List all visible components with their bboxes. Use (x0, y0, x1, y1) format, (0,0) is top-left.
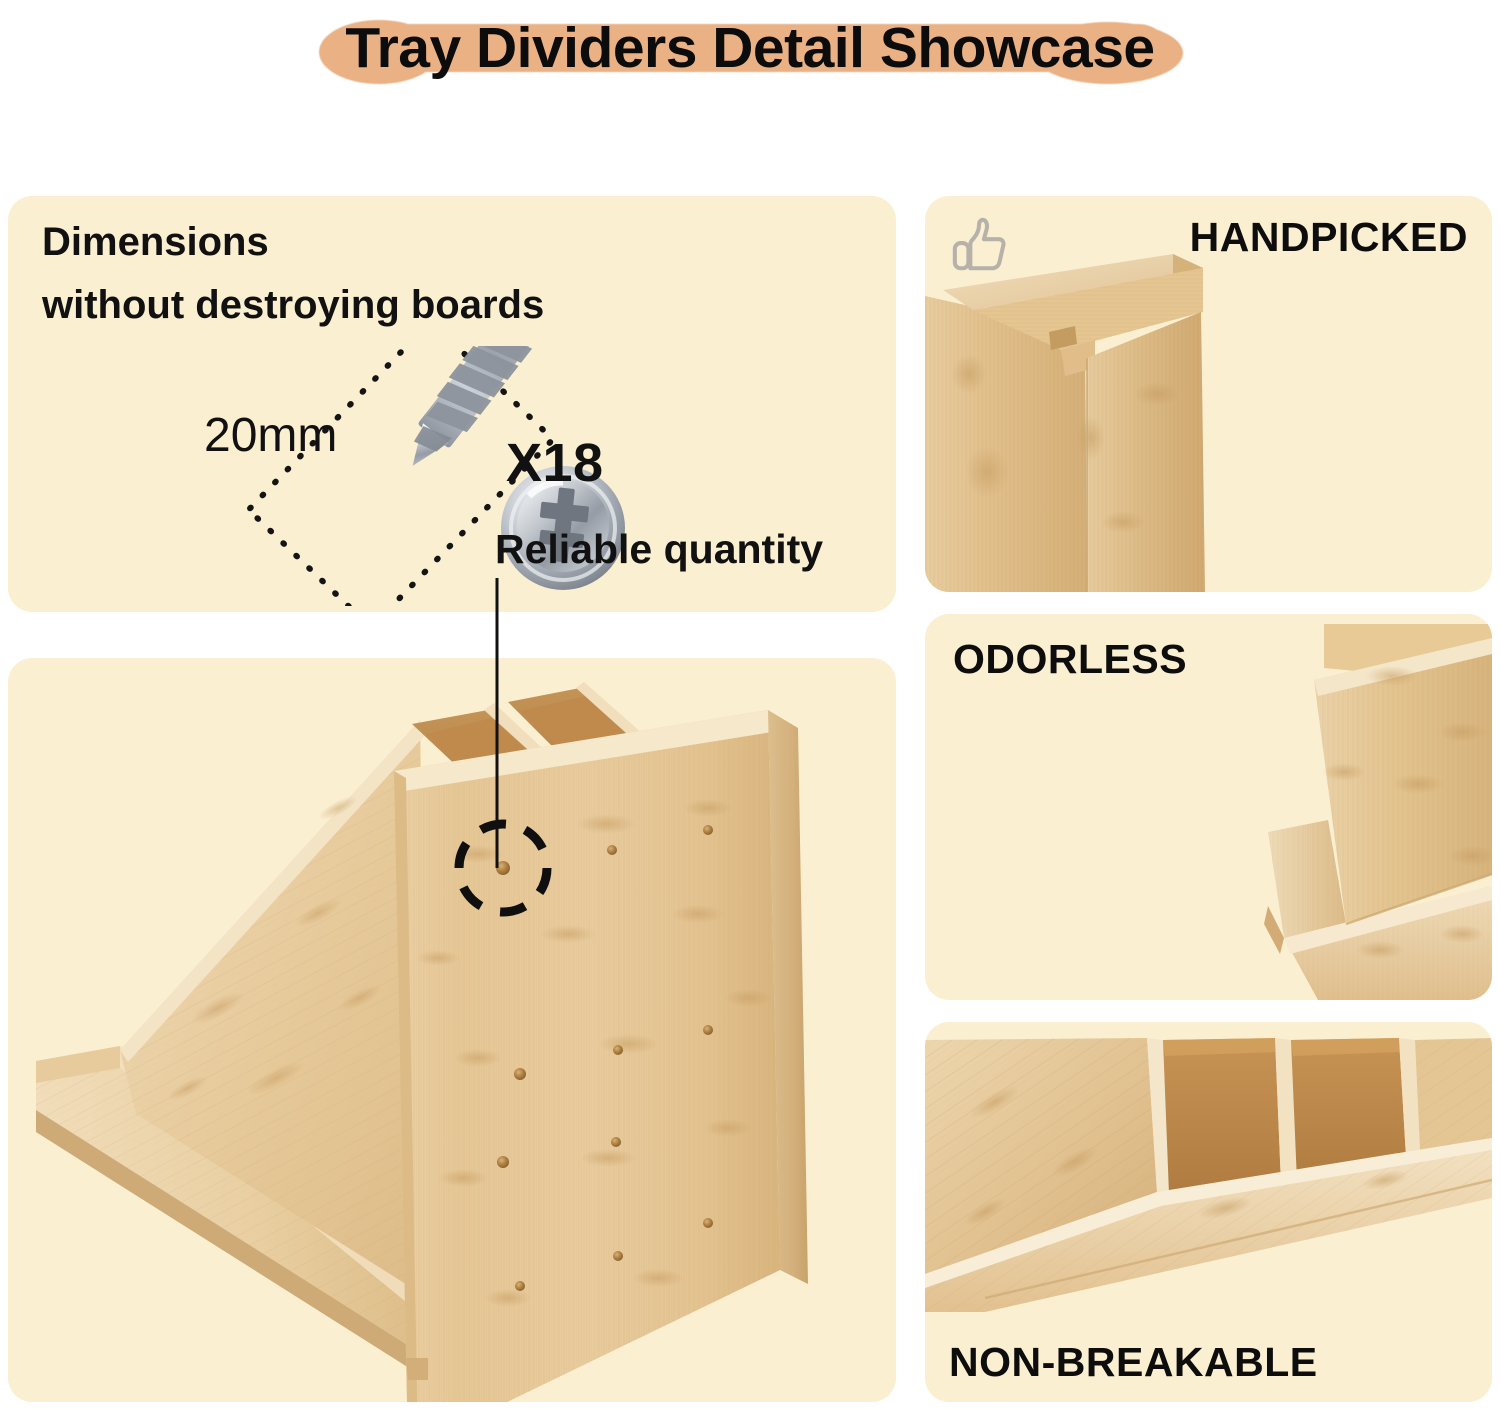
dimensions-heading-line1: Dimensions (42, 220, 269, 265)
title-highlight-wrap: Tray Dividers Detail Showcase (327, 15, 1172, 81)
reliable-quantity-caption: Reliable quantity (495, 526, 823, 573)
main-product-photo (8, 658, 896, 1402)
screw-quantity-label: X18 (506, 432, 604, 494)
divider-front-board (394, 710, 808, 1402)
divider-front-lip (406, 1358, 428, 1380)
callout-leader-line (480, 578, 520, 868)
non-breakable-photo (925, 1022, 1492, 1312)
handpicked-photo (925, 254, 1355, 592)
thumbs-up-icon (950, 214, 1012, 276)
dimensions-panel: Dimensions without destroying boards (8, 196, 896, 612)
non-breakable-panel: NON-BREAKABLE (925, 1022, 1492, 1402)
handpicked-label: HANDPICKED (1190, 214, 1468, 261)
screw-length-label: 20mm (204, 408, 337, 463)
main-product-panel (8, 658, 896, 1402)
page-title-bar: Tray Dividers Detail Showcase (0, 0, 1500, 96)
dimensions-heading-line2: without destroying boards (42, 283, 544, 328)
page-title: Tray Dividers Detail Showcase (345, 15, 1154, 81)
odorless-panel: ODORLESS (925, 614, 1492, 1000)
odorless-label: ODORLESS (953, 636, 1187, 683)
product-showcase-page: Tray Dividers Detail Showcase Dimensions… (0, 0, 1500, 1412)
non-breakable-label: NON-BREAKABLE (949, 1339, 1318, 1386)
handpicked-panel: HANDPICKED (925, 196, 1492, 592)
